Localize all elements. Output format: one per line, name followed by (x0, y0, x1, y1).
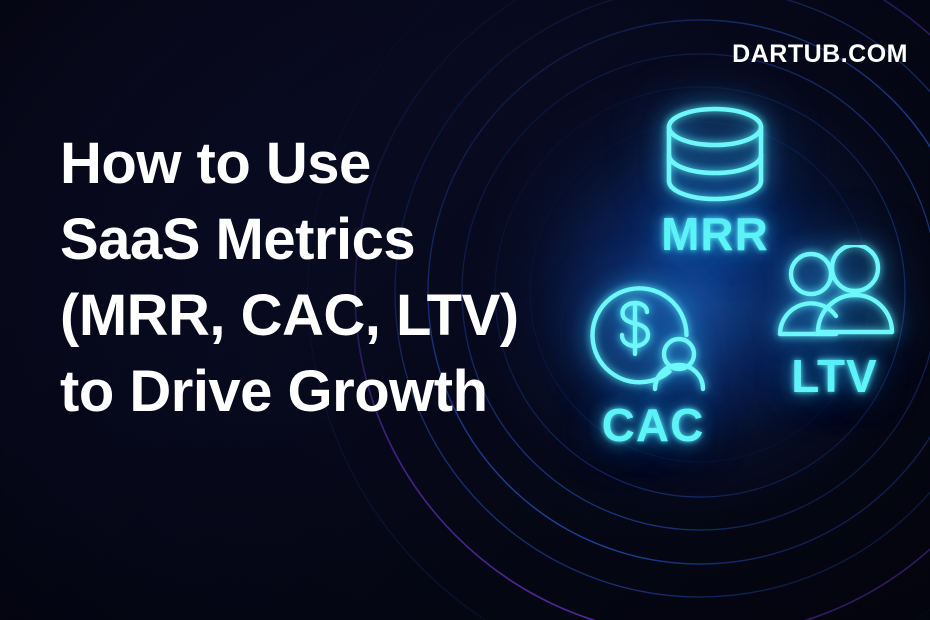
metric-label-cac: CAC (568, 402, 738, 448)
metric-group-ltv: LTV (742, 245, 927, 399)
site-logo-text: DARTUB.COM (732, 42, 908, 67)
two-people-icon (772, 245, 898, 349)
metric-label-ltv: LTV (742, 353, 927, 399)
poster-canvas: DARTUB.COM How to Use SaaS Metrics (MRR,… (0, 0, 930, 620)
title-line-1: How to Use (60, 126, 530, 202)
title-line-3: (MRR, CAC, LTV) (60, 278, 530, 354)
page-title: How to Use SaaS Metrics (MRR, CAC, LTV) … (60, 126, 530, 430)
dollar-circle-person-icon (585, 278, 721, 396)
title-line-4: to Drive Growth (60, 354, 530, 430)
metric-group-mrr: MRR (600, 105, 830, 257)
database-stack-icon (653, 105, 777, 203)
title-line-2: SaaS Metrics (60, 202, 530, 278)
metric-group-cac: CAC (568, 278, 738, 448)
